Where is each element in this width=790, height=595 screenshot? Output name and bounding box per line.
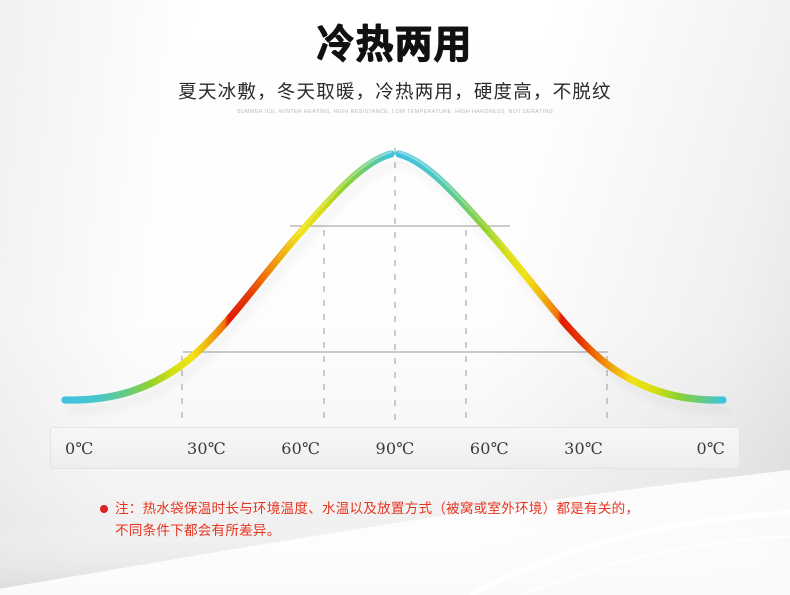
curve-shadow (65, 155, 723, 401)
curve-left-half (65, 154, 391, 400)
footnote-line-2: 不同条件下都会有所差异。 (115, 520, 639, 542)
subtitle-english: SUMMER ICE, WINTER HEATING, HIGH RESISTA… (0, 108, 790, 117)
temperature-curve (65, 152, 723, 400)
axis-tick-2: 60℃ (254, 439, 348, 458)
axis-tick-4: 60℃ (442, 439, 536, 458)
axis-tick-6: 0℃ (631, 439, 739, 458)
axis-tick-5: 30℃ (536, 439, 630, 458)
footnote-line-1: 注：热水袋保温时长与环境温度、水温以及放置方式（被窝或室外环境）都是有关的， (115, 498, 639, 520)
bullet-dot-icon (100, 505, 108, 513)
temperature-curve-chart (0, 130, 790, 430)
axis-tick-1: 30℃ (159, 439, 253, 458)
product-detail-page: 冷热两用 夏天冰敷，冬天取暖，冷热两用，硬度高，不脱纹 SUMMER ICE, … (0, 0, 790, 595)
subtitle-chinese: 夏天冰敷，冬天取暖，冷热两用，硬度高，不脱纹 (0, 81, 790, 105)
header: 冷热两用 夏天冰敷，冬天取暖，冷热两用，硬度高，不脱纹 SUMMER ICE, … (0, 22, 790, 117)
temperature-axis-bar: 0℃ 30℃ 60℃ 90℃ 60℃ 30℃ 0℃ (50, 427, 740, 469)
axis-tick-3: 90℃ (348, 439, 442, 458)
footnote: 注：热水袋保温时长与环境温度、水温以及放置方式（被窝或室外环境）都是有关的， 不… (100, 498, 750, 542)
axis-tick-0: 0℃ (51, 439, 159, 458)
footnote-text: 注：热水袋保温时长与环境温度、水温以及放置方式（被窝或室外环境）都是有关的， 不… (115, 498, 639, 542)
page-title: 冷热两用 (0, 21, 790, 70)
curve-right-half (399, 154, 723, 400)
